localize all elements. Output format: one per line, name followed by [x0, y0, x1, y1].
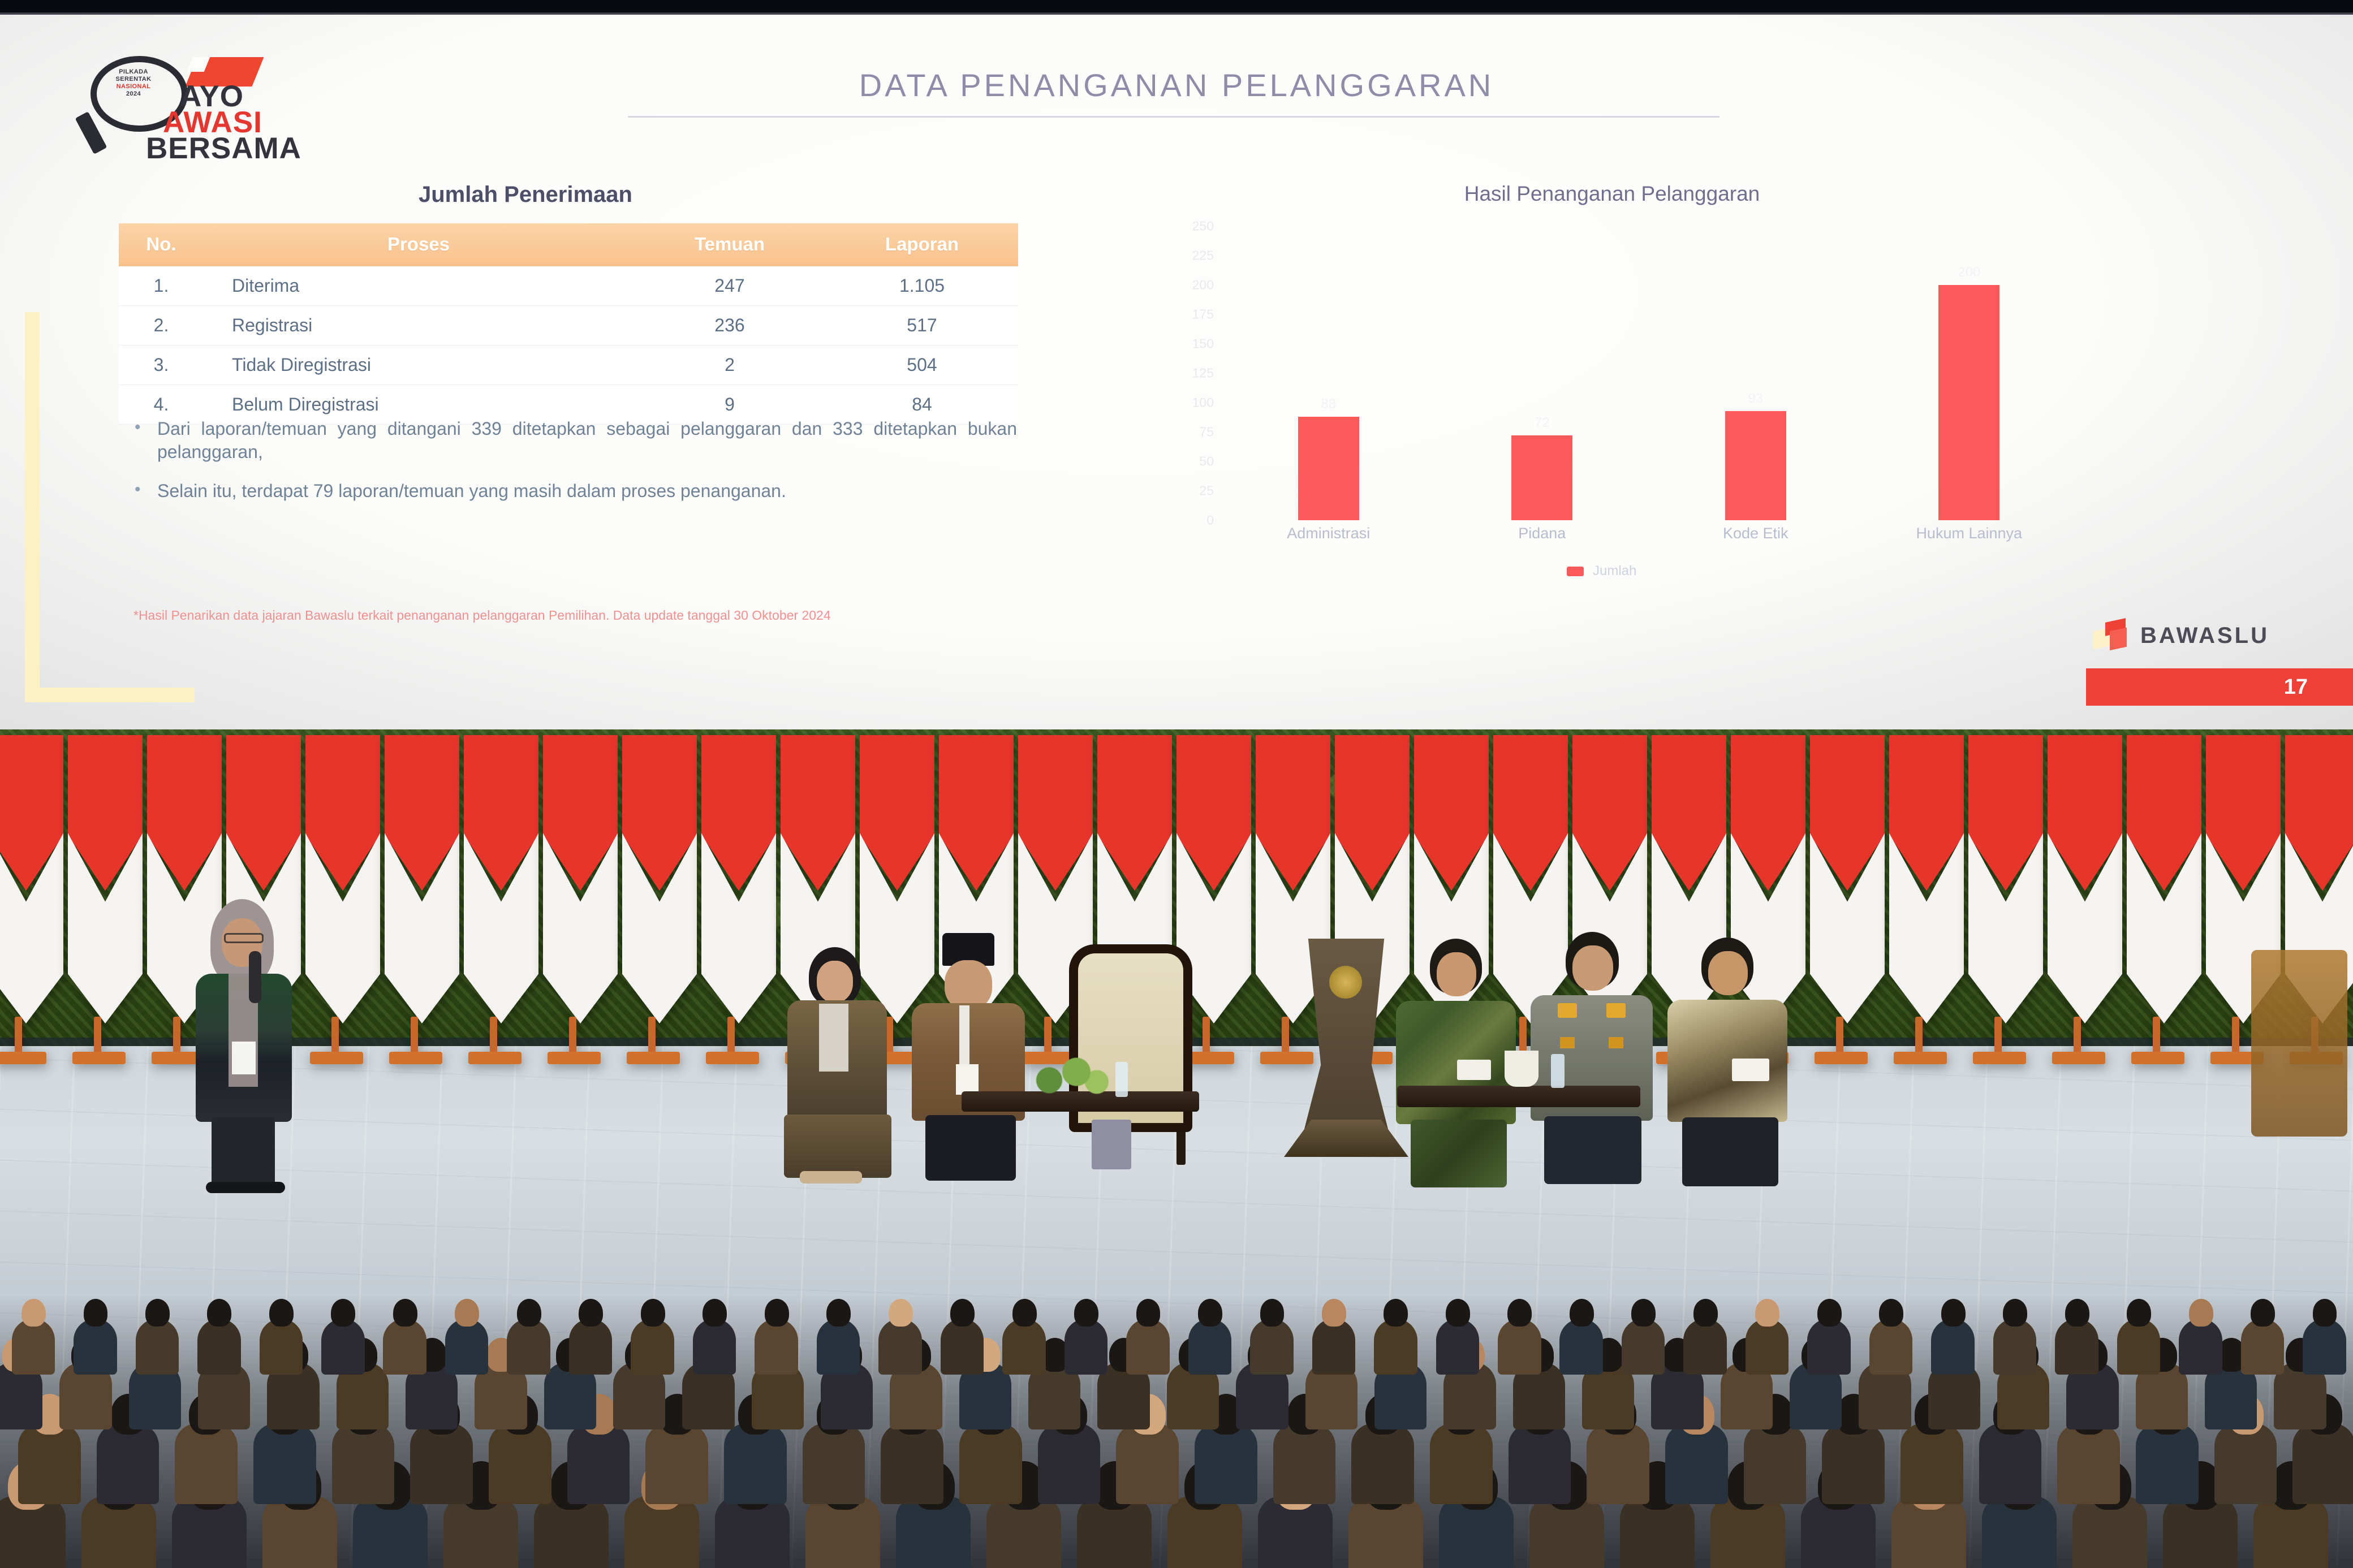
audience-member-body [1273, 1423, 1336, 1504]
chart-title: Hasil Penanganan Pelanggaran [1216, 182, 2008, 206]
audience-member-body [260, 1319, 303, 1375]
bar-group: 88 [1235, 226, 1423, 520]
audience-member-body [1807, 1319, 1851, 1375]
audience-member-head [1136, 1299, 1161, 1327]
logo-line-1: PILKADA [102, 68, 165, 76]
col-proses: Proses [204, 223, 633, 266]
indonesian-flag [0, 735, 63, 1023]
chart-plot-area: 887293200 [1222, 226, 2076, 520]
col-temuan: Temuan [633, 223, 826, 266]
audience-member-head [1384, 1299, 1408, 1327]
audience-member-body [1901, 1423, 1963, 1504]
chart-bar [1725, 411, 1786, 520]
audience-member-body [2117, 1319, 2161, 1375]
audience-member-head [2127, 1299, 2151, 1327]
cell-laporan: 504 [826, 345, 1018, 385]
cell-no: 3. [119, 345, 204, 385]
audience-member-body [2055, 1319, 2098, 1375]
panelist-man-peci [905, 933, 1035, 1187]
panelist-man-batik-right [1663, 938, 1793, 1192]
audience-member-head [331, 1299, 355, 1327]
audience-member-head [765, 1299, 789, 1327]
audience-member-head [2251, 1299, 2275, 1327]
audience-member-body [2214, 1423, 2277, 1504]
audience-member-body [1002, 1319, 1046, 1375]
audience-member-body [567, 1423, 630, 1504]
audience-member-body [1869, 1319, 1913, 1375]
audience-member-head [579, 1299, 603, 1327]
bullet-text: Dari laporan/temuan yang ditangani 339 d… [157, 417, 1017, 464]
audience-member-body [631, 1319, 674, 1375]
indonesian-flag [305, 735, 380, 1023]
audience-member-body [1374, 1319, 1417, 1375]
audience-member-body [1665, 1423, 1728, 1504]
panelist-woman-batik [775, 947, 899, 1185]
audience-member-body [1509, 1423, 1571, 1504]
indonesian-flag [701, 735, 776, 1023]
water-bottle [1115, 1062, 1128, 1097]
y-axis-tick: 175 [1192, 307, 1214, 322]
screenshot-root: PILKADA SERENTAK NASIONAL 2024 AYO AWASI… [0, 0, 2353, 1568]
audience-member-head [2065, 1299, 2089, 1327]
audience-member-head [1322, 1299, 1346, 1327]
y-axis-tick: 100 [1192, 395, 1214, 411]
cell-temuan: 236 [633, 306, 826, 345]
audience-member-body [445, 1319, 489, 1375]
audience-member-body [941, 1319, 984, 1375]
audience-member-body [1744, 1423, 1807, 1504]
logo-line-4: 2024 [102, 90, 165, 98]
audience-member-body [253, 1423, 316, 1504]
audience-member-head [1941, 1299, 1966, 1327]
audience-member-head [1879, 1299, 1903, 1327]
audience-member-head [207, 1299, 231, 1327]
col-no: No. [119, 223, 204, 266]
logo-inner-text: PILKADA SERENTAK NASIONAL 2024 [102, 68, 165, 98]
audience-member-head [641, 1299, 665, 1327]
chart-bar [1298, 417, 1359, 520]
penerimaan-table: No. Proses Temuan Laporan 1. Diterima 24… [119, 223, 1018, 425]
audience-member-head [2189, 1299, 2213, 1327]
audience-member-body [97, 1423, 160, 1504]
audience-member-body [1746, 1319, 1789, 1375]
audience-member-body [1559, 1319, 1603, 1375]
presenter-legs [212, 1117, 275, 1186]
audience-member-body [1126, 1319, 1170, 1375]
bar-group: 72 [1448, 226, 1636, 520]
bawaslu-logo: BAWASLU [2093, 619, 2269, 652]
water-bottle [1551, 1054, 1565, 1088]
legend-label: Jumlah [1593, 563, 1636, 579]
audience-member-body [2179, 1319, 2222, 1375]
chart-x-axis-labels: AdministrasiPidanaKode EtikHukum Lainnya [1222, 525, 2076, 542]
table-header-row: No. Proses Temuan Laporan [119, 223, 1018, 266]
audience-member-body [755, 1319, 798, 1375]
legend-swatch [1567, 567, 1584, 576]
audience-member-body [693, 1319, 736, 1375]
y-axis-tick: 50 [1199, 454, 1214, 469]
y-axis-tick: 75 [1199, 425, 1214, 440]
bar-value-label: 88 [1321, 396, 1336, 412]
cell-proses: Tidak Diregistrasi [204, 345, 633, 385]
audience-member-head [1012, 1299, 1037, 1327]
audience-member-head [2313, 1299, 2337, 1327]
indonesian-flag [2048, 735, 2122, 1023]
cell-proses: Registrasi [204, 306, 633, 345]
audience-member-body [1195, 1423, 1257, 1504]
bar-value-label: 93 [1748, 391, 1763, 407]
audience-member-body [881, 1423, 943, 1504]
indonesian-flag [622, 735, 697, 1023]
audience-member-body [1250, 1319, 1294, 1375]
logo-line-2: SERENTAK [102, 76, 165, 83]
cell-temuan: 2 [633, 345, 826, 385]
audience-member-head [826, 1299, 851, 1327]
audience-member-body [724, 1423, 787, 1504]
indonesian-flag [68, 735, 143, 1023]
audience-member-head [1570, 1299, 1594, 1327]
audience-member-body [1979, 1423, 2042, 1504]
audience-member-body [1683, 1319, 1727, 1375]
slide-number: 17 [2284, 675, 2308, 699]
audience-member-body [1822, 1423, 1885, 1504]
hall-scene [0, 729, 2353, 1568]
audience-member-head [1817, 1299, 1842, 1327]
cell-no: 1. [119, 266, 204, 306]
audience-member-body [2292, 1423, 2353, 1504]
x-axis-label: Administrasi [1235, 525, 1423, 542]
panelist-military-officer [1391, 939, 1522, 1193]
audience-member-body [18, 1423, 81, 1504]
audience-member-body [803, 1423, 865, 1504]
audience-member-body [175, 1423, 238, 1504]
cell-no: 2. [119, 306, 204, 345]
audience-member-head [703, 1299, 727, 1327]
y-axis-tick: 250 [1192, 219, 1214, 234]
audience-member-body [489, 1423, 551, 1504]
audience-member-body [74, 1319, 117, 1375]
audience-member-body [645, 1423, 708, 1504]
audience-member-body [321, 1319, 365, 1375]
title-divider [628, 116, 1720, 118]
bar-value-label: 200 [1958, 265, 1980, 280]
slide-left-accent-bar [25, 312, 40, 702]
audience-member-body [507, 1319, 550, 1375]
audience-member-body [878, 1319, 922, 1375]
logo-word-bersama: BERSAMA [146, 135, 301, 162]
presenter-figure [187, 899, 305, 1193]
cell-laporan: 517 [826, 306, 1018, 345]
y-axis-tick: 25 [1199, 483, 1214, 499]
audience-member-body [1430, 1423, 1493, 1504]
audience-member-body [2303, 1319, 2346, 1375]
bullet-marker: • [135, 417, 157, 464]
ceiling-dark-band [0, 0, 2353, 12]
audience-member-body [2241, 1319, 2285, 1375]
audience-member-body [332, 1423, 395, 1504]
audience-member-head [1198, 1299, 1222, 1327]
indonesian-flag [1810, 735, 1885, 1023]
audience-member-body [1993, 1319, 2037, 1375]
x-axis-label: Hukum Lainnya [1875, 525, 2063, 542]
col-laporan: Laporan [826, 223, 1018, 266]
list-item: • Dari laporan/temuan yang ditangani 339… [135, 417, 1017, 464]
audience-member-head [1507, 1299, 1532, 1327]
audience-member-body [1188, 1319, 1232, 1375]
x-axis-label: Kode Etik [1662, 525, 1850, 542]
panelist-police-chief [1527, 932, 1657, 1192]
audience-member-head [517, 1299, 541, 1327]
ayo-awasi-bersama-logo: PILKADA SERENTAK NASIONAL 2024 AYO AWASI… [79, 54, 266, 153]
audience-member-body [383, 1319, 426, 1375]
audience-area [0, 1295, 2353, 1568]
list-item: • Selain itu, terdapat 79 laporan/temuan… [135, 480, 1017, 503]
audience-member-body [1498, 1319, 1541, 1375]
table-heading: Jumlah Penerimaan [419, 182, 632, 208]
audience-member-head [393, 1299, 417, 1327]
presenter-badge [232, 1042, 256, 1074]
audience-member-body [12, 1319, 55, 1375]
audience-member-body [136, 1319, 179, 1375]
bullet-text: Selain itu, terdapat 79 laporan/temuan y… [157, 480, 1017, 503]
x-axis-label: Pidana [1448, 525, 1636, 542]
presenter-glasses-icon [224, 933, 264, 943]
audience-member-body [1622, 1319, 1665, 1375]
y-axis-tick: 200 [1192, 278, 1214, 293]
audience-member-head [1755, 1299, 1779, 1327]
audience-member-head [1446, 1299, 1470, 1327]
audience-member-body [1116, 1423, 1179, 1504]
bawaslu-wordmark: BAWASLU [2140, 623, 2269, 649]
gong-instrument [2251, 950, 2347, 1137]
flower-arrangement [1024, 1055, 1109, 1097]
audience-member-head [145, 1299, 170, 1327]
indonesian-flag [2127, 735, 2201, 1023]
y-axis-tick: 150 [1192, 336, 1214, 352]
audience-member-head [84, 1299, 108, 1327]
garuda-emblem-icon [1329, 966, 1362, 999]
bar-value-label: 72 [1535, 415, 1550, 431]
cell-proses: Diterima [204, 266, 633, 306]
audience-member-head [269, 1299, 294, 1327]
coffee-table-right [1397, 1086, 1640, 1107]
indonesian-flag [385, 735, 459, 1023]
y-axis-tick: 125 [1192, 366, 1214, 381]
audience-member-body [1436, 1319, 1480, 1375]
bawaslu-mark-icon [2093, 619, 2128, 652]
audience-member-body [959, 1423, 1022, 1504]
indonesian-flag [1968, 735, 2043, 1023]
audience-member-head [1631, 1299, 1656, 1327]
bullet-marker: • [135, 480, 157, 503]
audience-member-head [889, 1299, 913, 1327]
projection-screen: PILKADA SERENTAK NASIONAL 2024 AYO AWASI… [0, 0, 2353, 729]
audience-member-body [1931, 1319, 1975, 1375]
table-row: 2. Registrasi 236 517 [119, 306, 1018, 345]
logo-line-3: NASIONAL [102, 83, 165, 90]
audience-member-head [455, 1299, 479, 1327]
cell-laporan: 1.105 [826, 266, 1018, 306]
chart-bar [1938, 285, 1999, 520]
cell-temuan: 247 [633, 266, 826, 306]
audience-member-head [21, 1299, 46, 1327]
audience-member-head [1074, 1299, 1098, 1327]
audience-member-head [2003, 1299, 2027, 1327]
y-axis-tick: 225 [1192, 248, 1214, 264]
waste-bin [1092, 1120, 1131, 1169]
indonesian-flag [464, 735, 538, 1023]
summary-bullets: • Dari laporan/temuan yang ditangani 339… [135, 417, 1017, 519]
chart-legend: Jumlah [1567, 563, 1636, 579]
slide-footnote: *Hasil Penarikan data jajaran Bawaslu te… [133, 608, 1434, 623]
audience-member-body [817, 1319, 860, 1375]
bar-group: 93 [1662, 226, 1850, 520]
indonesian-flag [1889, 735, 1964, 1023]
presenter-microphone-icon [249, 951, 261, 1003]
flower-vase [1505, 1051, 1539, 1087]
audience-member-body [569, 1319, 613, 1375]
table-row: 1. Diterima 247 1.105 [119, 266, 1018, 306]
audience-member-body [197, 1319, 241, 1375]
presenter-shoes [206, 1182, 285, 1193]
audience-member-body [1312, 1319, 1356, 1375]
audience-member-body [1587, 1423, 1649, 1504]
slide-title: DATA PENANGANAN PELANGGARAN [752, 67, 1601, 103]
chart-y-axis: 0255075100125150175200225250 [1148, 226, 1216, 520]
indonesian-flag [543, 735, 618, 1023]
hasil-penanganan-bar-chart: 0255075100125150175200225250 887293200 A… [1148, 226, 2076, 543]
audience-member-body [2136, 1423, 2199, 1504]
table-row: 3. Tidak Diregistrasi 2 504 [119, 345, 1018, 385]
audience-member-body [1065, 1319, 1108, 1375]
audience-member-head [950, 1299, 975, 1327]
bar-group: 200 [1875, 226, 2063, 520]
audience-member-body [410, 1423, 473, 1504]
slide-number-bar: 17 [2086, 668, 2353, 706]
audience-member-body [1038, 1423, 1101, 1504]
audience-member-body [1351, 1423, 1414, 1504]
y-axis-tick: 0 [1206, 513, 1214, 528]
audience-member-body [2057, 1423, 2120, 1504]
audience-member-head [1260, 1299, 1285, 1327]
chart-bar [1511, 435, 1572, 520]
chart-bars: 887293200 [1222, 226, 2076, 520]
slide-bottom-accent-bar [25, 688, 195, 702]
audience-member-head [1693, 1299, 1718, 1327]
